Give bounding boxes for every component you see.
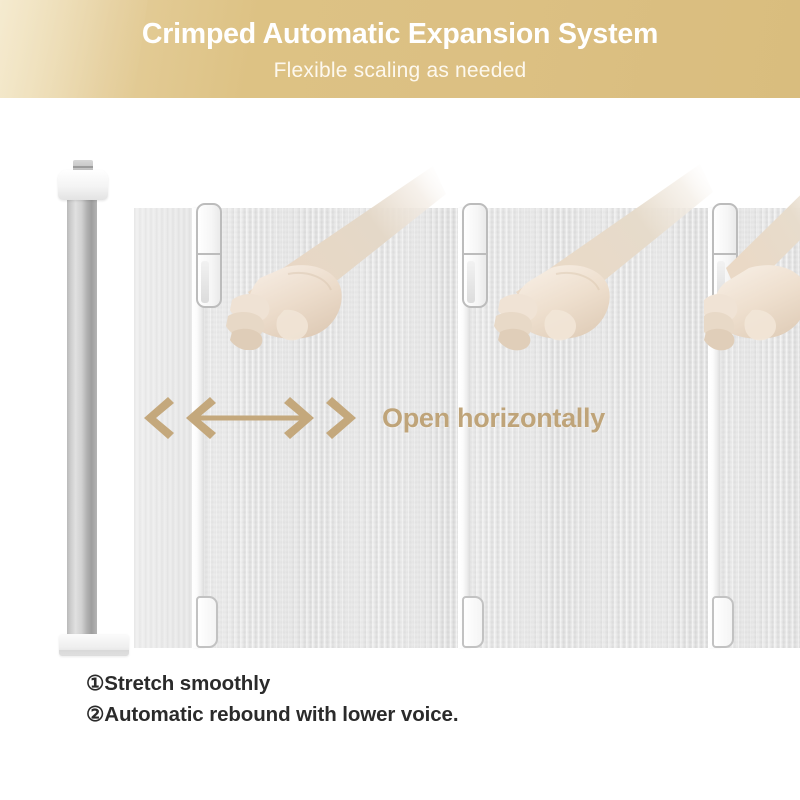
page-title: Crimped Automatic Expansion System bbox=[0, 17, 800, 51]
latch-bracket-top-2 bbox=[462, 203, 488, 308]
feature-list: ①Stretch smoothly ②Automatic rebound wit… bbox=[86, 668, 786, 730]
latch-divider bbox=[198, 253, 220, 255]
latch-bracket-top-3 bbox=[712, 203, 738, 308]
page-subtitle: Flexible scaling as needed bbox=[0, 58, 800, 84]
chevron-left-icon bbox=[144, 397, 174, 439]
latch-tab bbox=[201, 261, 209, 303]
product-illustration: Open horizontally bbox=[0, 98, 800, 663]
header-banner: Crimped Automatic Expansion System Flexi… bbox=[0, 0, 800, 98]
chevron-right-icon bbox=[326, 397, 356, 439]
feature-list-item: ②Automatic rebound with lower voice. bbox=[86, 699, 786, 730]
latch-divider bbox=[714, 253, 736, 255]
direction-arrow-group bbox=[140, 393, 360, 443]
open-direction-overlay: Open horizontally bbox=[140, 393, 605, 443]
latch-tab bbox=[467, 261, 475, 303]
open-horizontally-label: Open horizontally bbox=[382, 403, 605, 434]
retractor-base-shadow bbox=[59, 650, 129, 655]
retractor-housing bbox=[67, 183, 97, 656]
retractor-top-nub-seam bbox=[73, 166, 93, 168]
double-headed-arrow-icon bbox=[186, 397, 314, 439]
latch-divider bbox=[464, 253, 486, 255]
feature-list-item: ①Stretch smoothly bbox=[86, 668, 786, 699]
latch-bracket-bottom-3 bbox=[712, 596, 734, 648]
latch-bracket-bottom-1 bbox=[196, 596, 218, 648]
retractor-top-cap bbox=[58, 170, 108, 200]
latch-bracket-top-1 bbox=[196, 203, 222, 308]
latch-tab bbox=[717, 261, 725, 303]
latch-bracket-bottom-2 bbox=[462, 596, 484, 648]
